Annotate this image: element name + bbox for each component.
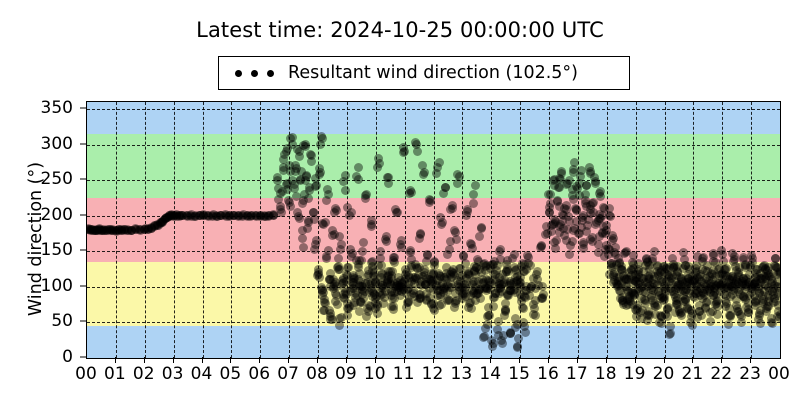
x-tick-mark [317,357,318,363]
x-tick-label: 00 [75,364,97,384]
scatter-point [361,191,370,200]
scatter-point [310,245,319,254]
x-tick-mark [721,357,722,363]
scatter-point [346,245,355,254]
scatter-point [571,204,580,213]
scatter-point [713,310,722,319]
scatter-point [331,289,340,298]
scatter-point [406,248,415,257]
x-tick-mark [548,357,549,363]
scatter-point [483,320,492,329]
legend-marker-group [235,70,274,77]
scatter-point [510,250,519,259]
scatter-point [773,312,781,321]
scatter-point [309,208,318,217]
scatter-point [581,190,590,199]
x-tick-label: 23 [739,364,761,384]
x-tick-mark [404,357,405,363]
x-tick-label: 22 [710,364,732,384]
y-tick-label: 350 [41,98,73,118]
scatter-point [413,298,422,307]
scatter-point [588,199,597,208]
scatter-point [606,212,615,221]
scatter-point [693,313,702,322]
scatter-point [468,244,477,253]
y-tick-label: 50 [51,311,73,331]
scatter-point [325,306,334,315]
x-tick-label: 07 [277,364,299,384]
scatter-point [538,282,547,291]
scatter-point [774,301,781,310]
scatter-point [650,247,659,256]
scatter-point [299,141,308,150]
x-tick-mark [259,357,260,363]
scatter-point [496,245,505,254]
scatter-point [724,320,733,329]
x-tick-mark [115,357,116,363]
scatter-point [330,208,339,217]
scatter-point [523,251,532,260]
x-tick-label: 12 [422,364,444,384]
x-tick-label: 08 [306,364,328,384]
scatter-point [321,218,330,227]
legend-marker-dot [267,70,274,77]
scatter-point [448,204,457,213]
x-tick-label: 16 [537,364,559,384]
legend-marker-dot [235,70,242,77]
x-tick-label: 00 [768,364,790,384]
x-tick-mark [433,357,434,363]
scatter-point [425,198,434,207]
scatter-point [489,302,498,311]
scatter-point [413,147,422,156]
scatter-point [399,143,408,152]
scatter-point [362,312,371,321]
scatter-point [322,254,331,263]
plot-area [86,101,781,359]
scatter-point [500,311,509,320]
page-title: Latest time: 2024-10-25 00:00:00 UTC [0,18,800,42]
scatter-point [288,133,297,142]
scatter-point [483,312,492,321]
x-tick-mark [173,357,174,363]
scatter-point [497,336,506,345]
x-tick-label: 09 [335,364,357,384]
x-axis-ticks: 0001020304050607080910111213141516171819… [86,357,779,397]
scatter-point [335,232,344,241]
x-tick-mark [664,357,665,363]
x-tick-label: 17 [566,364,588,384]
scatter-point [679,248,688,257]
scatter-point [354,175,363,184]
scatter-point [354,163,363,172]
x-tick-label: 14 [479,364,501,384]
scatter-point [453,179,462,188]
scatter-point [357,256,366,265]
x-tick-mark [288,357,289,363]
scatter-point [773,291,781,300]
scatter-point [744,308,753,317]
scatter-point [335,321,344,330]
scatter-point [315,273,324,282]
scatter-point [432,169,441,178]
x-tick-mark [519,357,520,363]
scatter-point [373,163,382,172]
scatter-point [334,254,343,263]
y-tick-label: 0 [62,347,73,367]
scatter-point [384,173,393,182]
scatter-point [306,150,315,159]
x-tick-label: 03 [162,364,184,384]
scatter-point [756,319,765,328]
x-tick-mark [606,357,607,363]
scatter-point [605,204,614,213]
scatter-point [435,158,444,167]
x-tick-mark [230,357,231,363]
scatter-point [341,171,350,180]
scatter-point [513,343,522,352]
scatter-point [411,138,420,147]
x-tick-mark [346,357,347,363]
scatter-point [544,190,553,199]
scatter-point [311,182,320,191]
scatter-point [469,199,478,208]
x-tick-label: 10 [364,364,386,384]
scatter-point [435,301,444,310]
scatter-point [551,244,560,253]
y-axis-label: Wind direction (°) [26,119,46,359]
scatter-point [341,186,350,195]
scatter-points [87,102,780,358]
scatter-point [336,245,345,254]
scatter-point [358,247,367,256]
x-tick-mark [692,357,693,363]
scatter-point [469,190,478,199]
scatter-point [529,300,538,309]
x-tick-label: 04 [191,364,213,384]
scatter-point [405,189,414,198]
x-tick-mark [750,357,751,363]
scatter-point [475,232,484,241]
scatter-point [389,305,398,314]
scatter-point [312,236,321,245]
x-tick-label: 15 [508,364,530,384]
scatter-point [324,246,333,255]
scatter-point [568,237,577,246]
wind-direction-figure: Latest time: 2024-10-25 00:00:00 UTC Res… [0,0,800,400]
scatter-point [532,270,541,279]
scatter-point [314,265,323,274]
chart-legend: Resultant wind direction (102.5°) [218,56,630,90]
x-tick-label: 21 [682,364,704,384]
scatter-point [565,250,574,259]
scatter-point [295,214,304,223]
scatter-point [322,196,331,205]
scatter-point [298,234,307,243]
scatter-point [303,224,312,233]
x-tick-label: 13 [451,364,473,384]
scatter-point [663,312,672,321]
scatter-point [461,259,470,268]
scatter-point [367,222,376,231]
scatter-point [299,243,308,252]
scatter-point [382,237,391,246]
scatter-point [582,181,591,190]
scatter-point [334,265,343,274]
scatter-point [570,158,579,167]
scatter-point [774,283,781,292]
legend-label: Resultant wind direction (102.5°) [288,63,578,83]
scatter-point [397,236,406,245]
legend-marker-dot [251,70,258,77]
x-tick-mark [635,357,636,363]
scatter-point [443,250,452,259]
scatter-point [519,318,528,327]
x-tick-mark [375,357,376,363]
x-tick-label: 01 [104,364,126,384]
scatter-point [665,330,674,339]
scatter-point [471,181,480,190]
x-tick-label: 05 [220,364,242,384]
x-tick-label: 18 [595,364,617,384]
x-tick-label: 11 [393,364,415,384]
x-tick-mark [461,357,462,363]
x-tick-mark [144,357,145,363]
x-tick-mark [577,357,578,363]
x-tick-mark [202,357,203,363]
scatter-point [304,194,313,203]
x-tick-mark [490,357,491,363]
x-tick-label: 20 [653,364,675,384]
scatter-point [776,269,781,278]
scatter-point [323,185,332,194]
scatter-point [537,242,546,251]
x-tick-label: 06 [248,364,270,384]
scatter-point [359,238,368,247]
scatter-point [518,303,527,312]
scatter-point [389,256,398,265]
scatter-point [439,189,448,198]
x-tick-label: 02 [133,364,155,384]
scatter-point [521,328,530,337]
x-tick-label: 19 [624,364,646,384]
scatter-point [602,221,611,230]
